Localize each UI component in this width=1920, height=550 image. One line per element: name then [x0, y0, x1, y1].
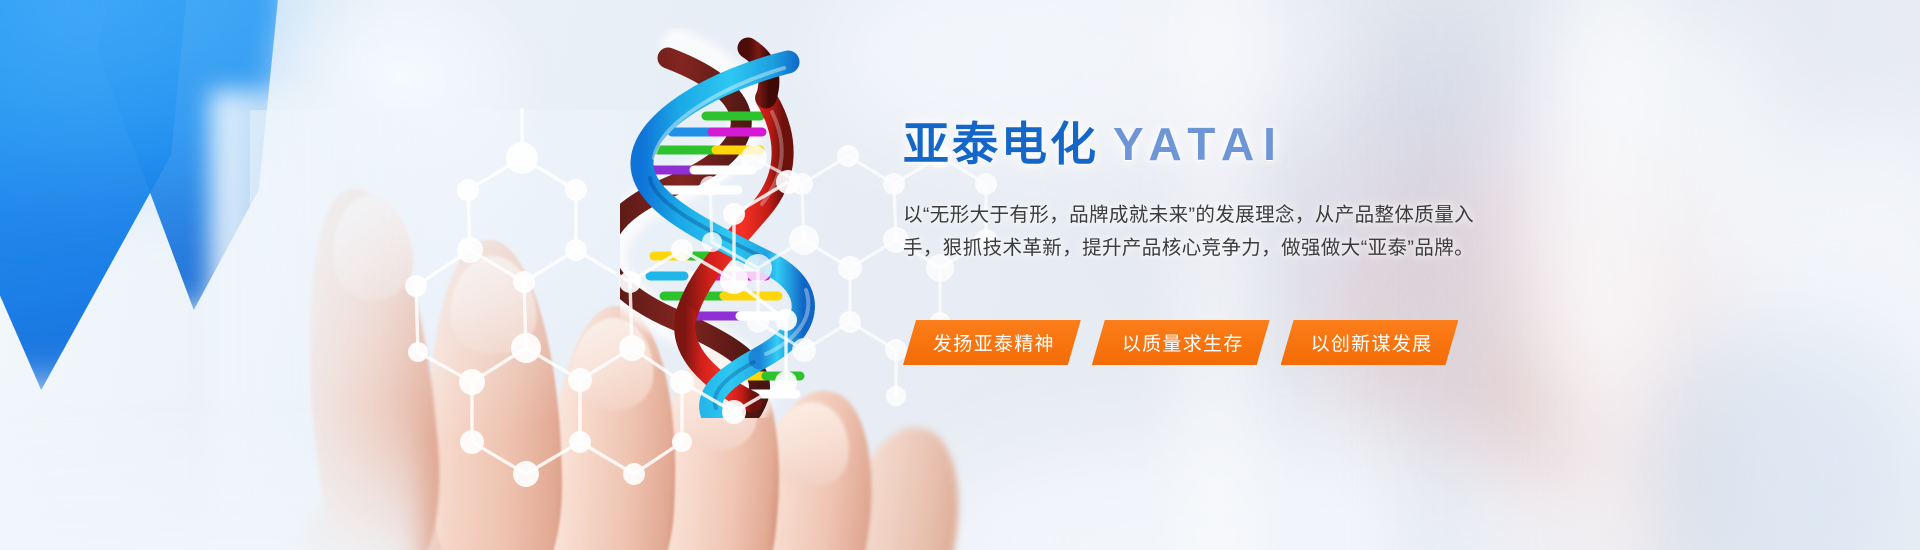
- page-title-cn: 亚泰电化: [903, 118, 1099, 170]
- background-streak-white-1: [1186, 0, 1246, 550]
- slogan-tag-separator-1: [1078, 320, 1092, 365]
- banner-copy: 亚泰电化YATAI 以“无形大于有形，品牌成就未来”的发展理念，从产品整体质量入…: [903, 118, 1623, 264]
- slogan-tag-1[interactable]: 发扬亚泰精神: [903, 320, 1081, 365]
- hero-banner: 亚泰电化YATAI 以“无形大于有形，品牌成就未来”的发展理念，从产品整体质量入…: [0, 0, 1920, 550]
- description-line-2: 手，狠抓技术革新，提升产品核心竞争力，做强做大“亚泰”品牌。: [903, 232, 1583, 264]
- background-streak-grey: [1420, 0, 1460, 550]
- background-streak-white-2: [1560, 0, 1650, 550]
- description-line-1: 以“无形大于有形，品牌成就未来”的发展理念，从产品整体质量入: [903, 199, 1583, 231]
- page-title: 亚泰电化YATAI: [903, 118, 1623, 171]
- banner-description: 以“无形大于有形，品牌成就未来”的发展理念，从产品整体质量入 手，狠抓技术革新，…: [903, 199, 1583, 263]
- slogan-tag-separator-2: [1267, 320, 1281, 365]
- page-title-en: YATAI: [1113, 118, 1285, 170]
- slogan-tag-3[interactable]: 以创新谋发展: [1281, 320, 1459, 365]
- slogan-tag-list: 发扬亚泰精神 以质量求生存 以创新谋发展: [903, 320, 1455, 365]
- slogan-tag-2[interactable]: 以质量求生存: [1092, 320, 1270, 365]
- bottom-left-haze: [0, 400, 420, 550]
